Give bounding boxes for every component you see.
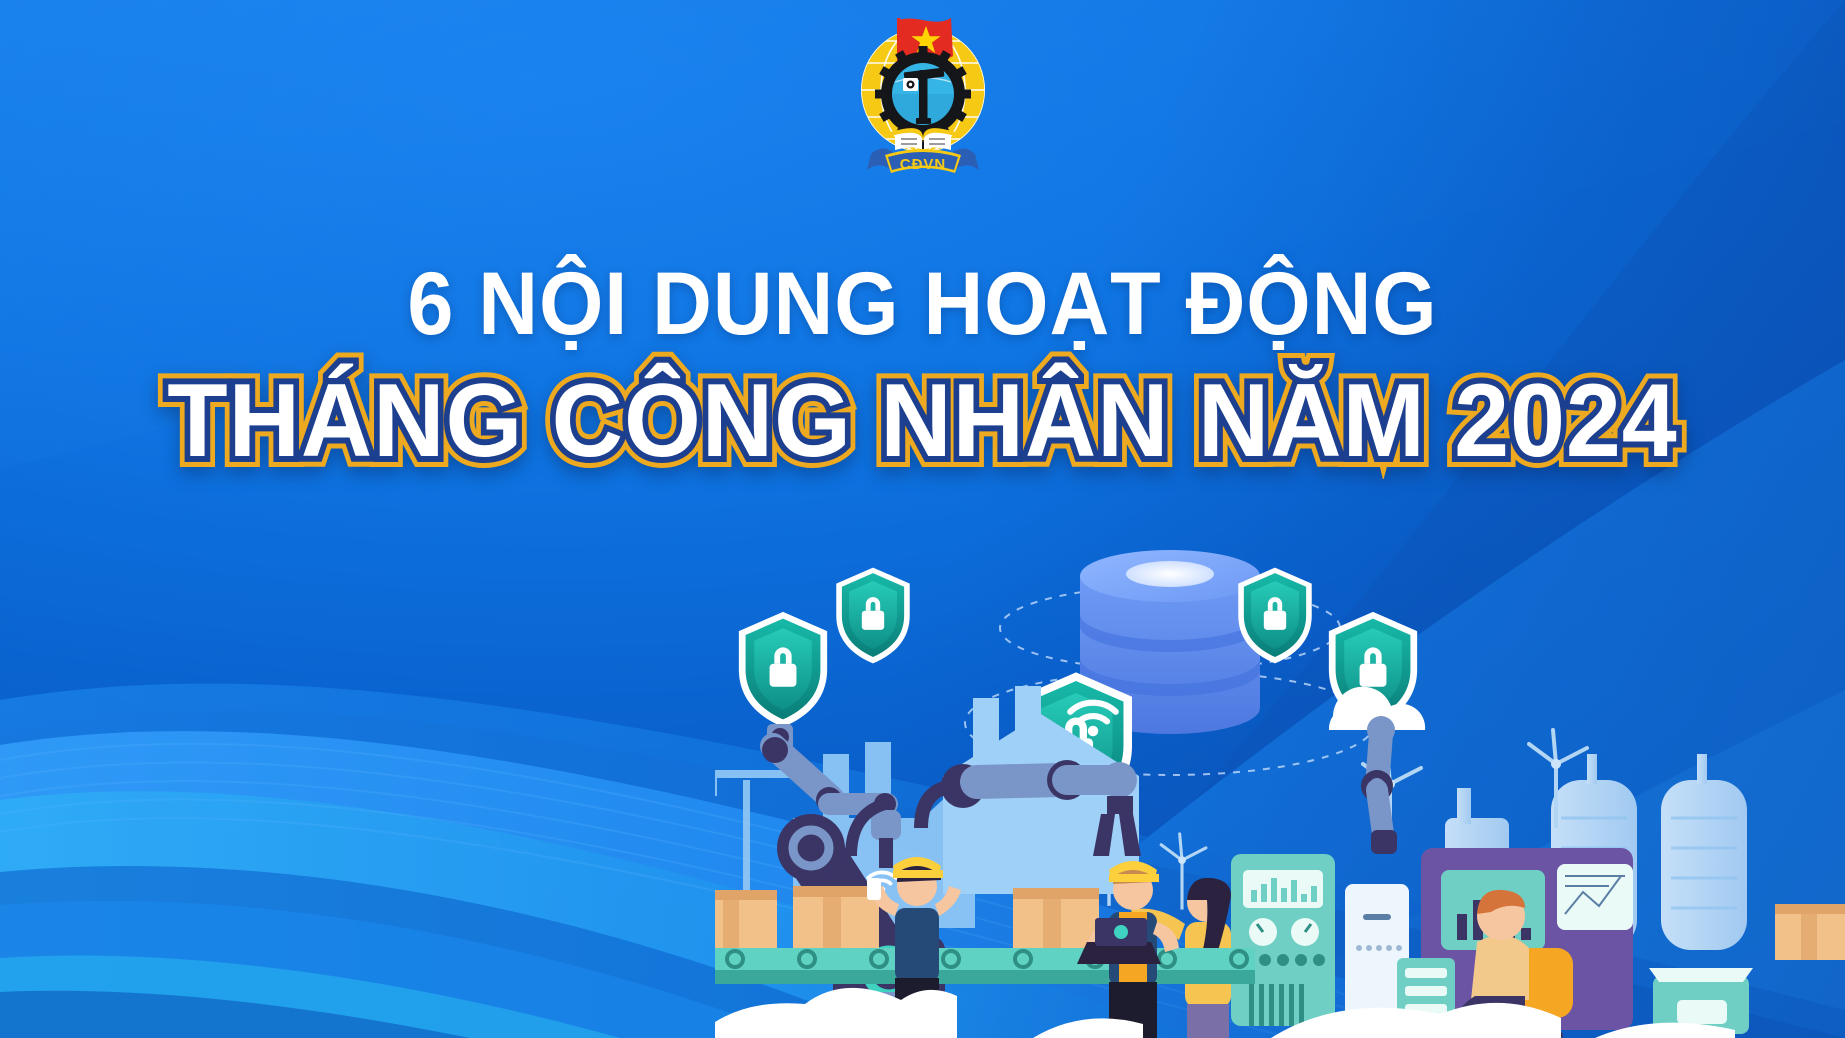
title-line-1: 6 NỘI DUNG HOẠT ĐỘNG — [65, 258, 1781, 349]
title-block: 6 NỘI DUNG HOẠT ĐỘNG THÁNG CÔNG NHÂN NĂM… — [0, 258, 1845, 479]
title-line-2-fill: THÁNG CÔNG NHÂN NĂM 2024 — [46, 367, 1799, 476]
title-line-2-wrapper: THÁNG CÔNG NHÂN NĂM 2024 THÁNG CÔNG NHÂN… — [0, 367, 1845, 479]
svg-text:CĐVN: CĐVN — [899, 156, 946, 173]
poster-canvas: CĐVN 6 NỘI DUNG HOẠT ĐỘNG THÁNG CÔNG NHÂ… — [0, 0, 1845, 1038]
cdvn-emblem: CĐVN — [833, 8, 1013, 183]
